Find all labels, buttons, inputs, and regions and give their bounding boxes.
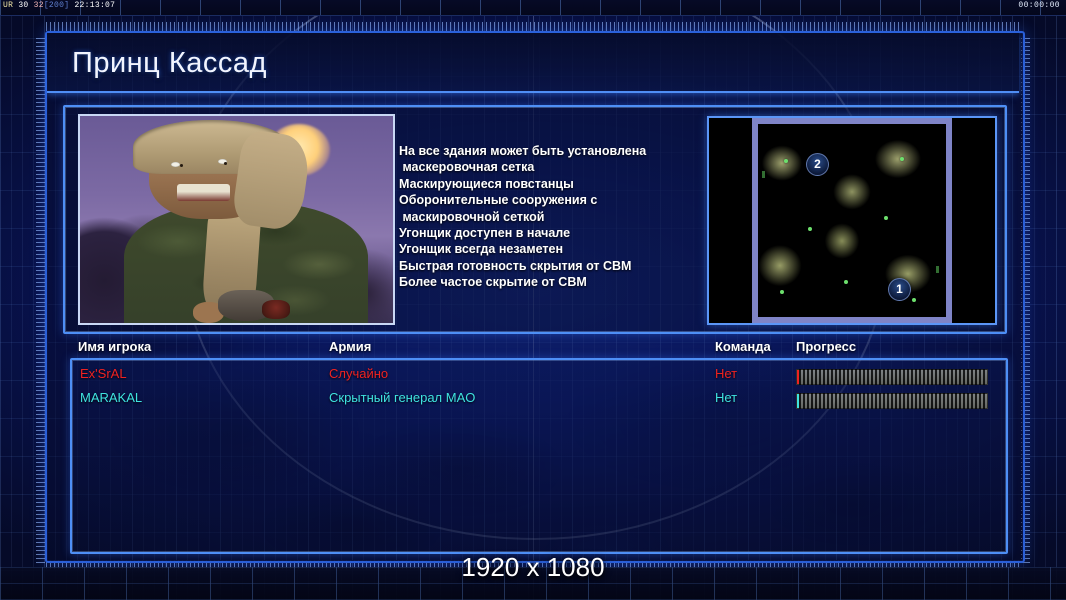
- map-resource-dot: [844, 280, 848, 284]
- ability-line: маскировочной сеткой: [399, 209, 699, 225]
- ruler-left-decoration: [36, 38, 45, 566]
- player-name: Ex'SrAL: [80, 366, 127, 381]
- session-info-text: UR 30 32[200] 22:13:07: [3, 1, 115, 10]
- table-row[interactable]: MARAKALСкрытный генерал MAOНет: [80, 390, 1000, 412]
- progress-bar: [796, 393, 988, 409]
- general-portrait: [78, 114, 395, 325]
- portrait-cup: [262, 300, 290, 319]
- session-part-2: 30: [18, 1, 28, 10]
- top-tick-marks: [0, 0, 1066, 15]
- portrait-pupil-right: [224, 162, 227, 165]
- player-name: MARAKAL: [80, 390, 142, 405]
- map-preview[interactable]: 21: [707, 116, 997, 325]
- progress-bar-fill: [797, 394, 799, 408]
- column-header-progress: Прогресс: [796, 339, 856, 354]
- player-army: Случайно: [329, 366, 388, 381]
- map-letterbox-left: [709, 118, 752, 323]
- portrait-mouth: [177, 184, 230, 201]
- general-ability-list: На все здания может быть установлена мас…: [399, 143, 699, 291]
- player-team: Нет: [715, 390, 737, 405]
- progress-bar: [796, 369, 988, 385]
- ruler-top-decoration: [46, 22, 1020, 31]
- ability-line: На все здания может быть установлена: [399, 143, 699, 159]
- map-letterbox-right: [952, 118, 995, 323]
- session-part-1: UR: [3, 1, 13, 10]
- ability-line: Быстрая готовность скрытия от СВМ: [399, 258, 699, 274]
- map-terrain: 21: [752, 118, 952, 323]
- map-resource-dot: [784, 159, 788, 163]
- column-header-team: Команда: [715, 339, 771, 354]
- map-tree: [762, 171, 765, 178]
- ability-line: Угонщик доступен в начале: [399, 225, 699, 241]
- column-header-name: Имя игрока: [78, 339, 151, 354]
- game-lobby-screen: UR 30 32[200] 22:13:07 00:00:00 Принц Ка…: [0, 0, 1066, 600]
- portrait-eye-left: [171, 162, 180, 167]
- table-row[interactable]: Ex'SrALСлучайноНет: [80, 366, 1000, 388]
- map-resource-dot: [900, 157, 904, 161]
- session-part-5: 22:13:07: [74, 1, 115, 10]
- map-resource-dot: [808, 227, 812, 231]
- player-table-header: Имя игрока Армия Команда Прогресс: [78, 339, 1004, 357]
- ability-line: маскеровочная сетка: [399, 159, 699, 175]
- map-tree: [936, 266, 939, 273]
- elapsed-timer: 00:00:00: [1018, 1, 1060, 10]
- progress-bar-fill: [797, 370, 799, 384]
- player-army: Скрытный генерал MAO: [329, 390, 475, 405]
- page-title: Принц Кассад: [72, 47, 267, 80]
- map-start-position-marker[interactable]: 2: [806, 153, 829, 176]
- session-part-4: [200]: [44, 1, 70, 10]
- ability-line: Более частое скрытие от СВМ: [399, 274, 699, 290]
- session-part-3: 32: [34, 1, 44, 10]
- player-team: Нет: [715, 366, 737, 381]
- map-start-position-marker[interactable]: 1: [888, 278, 911, 301]
- ability-line: Маскирующиеся повстанцы: [399, 176, 699, 192]
- portrait-pupil-left: [180, 164, 183, 167]
- column-header-army: Армия: [329, 339, 371, 354]
- ability-line: Угонщик всегда незаметен: [399, 241, 699, 257]
- resolution-overlay: 1920 x 1080: [0, 552, 1066, 583]
- ability-line: Оборонительные сооружения с: [399, 192, 699, 208]
